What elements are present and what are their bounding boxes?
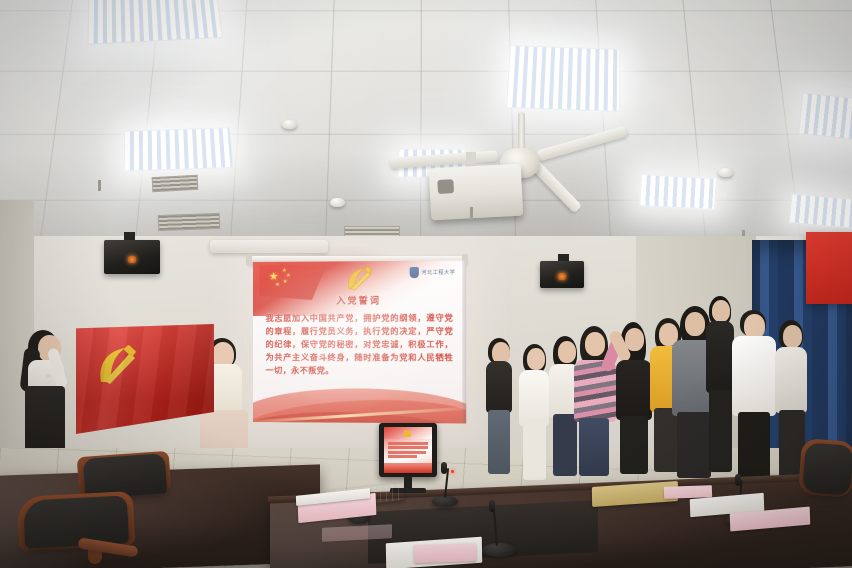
chair-backrest bbox=[802, 442, 852, 495]
head bbox=[712, 300, 730, 322]
smoke-detector bbox=[282, 120, 297, 129]
photo-scene: ★ ★ ★ ★ ★ 河北工程大学 入党誓词 我志愿加入中国共产党，拥护党的纲领，… bbox=[0, 0, 852, 568]
slide-heading: 入党誓词 bbox=[253, 293, 466, 307]
legs bbox=[620, 416, 648, 474]
desktop-monitor bbox=[379, 423, 437, 477]
head bbox=[585, 332, 605, 356]
speaker-bracket bbox=[124, 232, 135, 240]
slide-oath-text: 我志愿加入中国共产党，拥护党的纲领，遵守党的章程，履行党员义务，执行党的决定，严… bbox=[266, 311, 454, 378]
ceiling-light-panel bbox=[124, 127, 234, 171]
conference-chair[interactable] bbox=[800, 440, 852, 530]
ceiling-hook bbox=[470, 207, 473, 218]
ceiling-light-panel bbox=[87, 0, 222, 45]
ceiling-light-panel bbox=[639, 174, 717, 210]
oath-taker-raised-fist bbox=[572, 326, 618, 478]
torso bbox=[732, 336, 776, 416]
microphone-head bbox=[735, 474, 741, 486]
torso bbox=[616, 360, 652, 420]
microphone-head bbox=[441, 462, 447, 474]
torso bbox=[519, 370, 549, 426]
red-banner bbox=[806, 232, 852, 304]
university-logo: 河北工程大学 bbox=[410, 267, 455, 278]
legs bbox=[579, 418, 609, 476]
ceiling-fan-rod bbox=[518, 112, 525, 152]
torso bbox=[486, 361, 512, 413]
microphone-led bbox=[451, 470, 454, 473]
smoke-detector bbox=[718, 168, 733, 177]
ceiling-air-vent bbox=[158, 213, 221, 231]
hammer-and-sickle-emblem bbox=[343, 266, 373, 292]
hammer-sickle-svg bbox=[343, 266, 373, 292]
flag-star-small: ★ bbox=[275, 283, 279, 288]
pink-document[interactable] bbox=[664, 485, 712, 499]
oath-taker bbox=[484, 338, 516, 478]
wall-speaker bbox=[540, 261, 584, 288]
head bbox=[783, 325, 802, 348]
name-badge bbox=[46, 374, 51, 378]
ceiling-light-panel bbox=[798, 92, 852, 142]
legs bbox=[488, 410, 510, 474]
slide-wave-graphic bbox=[253, 374, 466, 423]
ceiling-projector bbox=[429, 164, 524, 221]
flag-star-small: ★ bbox=[283, 280, 287, 285]
ceiling-light-panel bbox=[789, 193, 852, 228]
head bbox=[527, 348, 545, 370]
conference-chair[interactable] bbox=[18, 494, 138, 568]
legs bbox=[709, 390, 732, 472]
oath-taker-white-shirt bbox=[730, 310, 778, 480]
wall-speaker bbox=[104, 240, 160, 274]
torso bbox=[775, 347, 807, 413]
ceiling-hook bbox=[98, 180, 101, 191]
legs bbox=[523, 422, 546, 480]
projected-slide: ★ ★ ★ ★ ★ 河北工程大学 入党誓词 我志愿加入中国共产党，拥护党的纲领，… bbox=[253, 261, 466, 424]
wall-air-conditioner bbox=[210, 240, 328, 253]
pink-document[interactable] bbox=[414, 543, 477, 563]
ceiling-light-panel bbox=[506, 45, 620, 112]
monitor-screen bbox=[384, 427, 433, 472]
microphone-base bbox=[482, 543, 516, 557]
university-shield-icon bbox=[410, 267, 419, 278]
chair-backrest bbox=[23, 495, 129, 548]
screen-roller-cap bbox=[246, 254, 252, 266]
smoke-detector bbox=[330, 198, 345, 207]
head bbox=[685, 312, 705, 336]
ceiling-air-vent bbox=[152, 175, 199, 192]
university-name: 河北工程大学 bbox=[421, 269, 455, 276]
screen-edge-shadow bbox=[462, 261, 466, 424]
microphone-head bbox=[489, 500, 495, 512]
flag-star-large: ★ bbox=[269, 271, 279, 282]
oath-taker bbox=[518, 344, 552, 480]
legs bbox=[738, 412, 770, 480]
